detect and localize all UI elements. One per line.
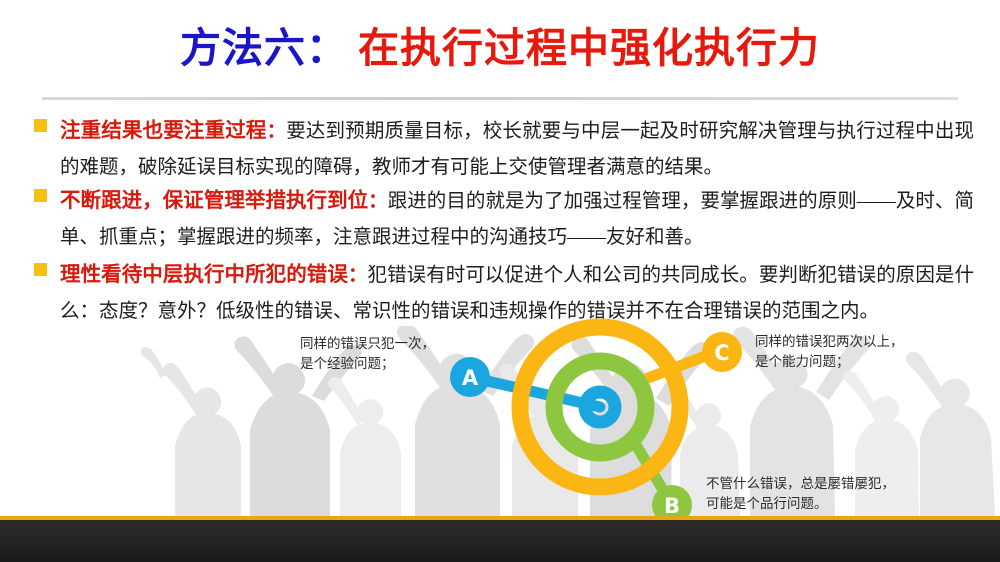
title-divider	[42, 97, 958, 100]
callout-c-line2: 是个能力问题；	[755, 352, 904, 372]
connector-line-c	[648, 352, 716, 378]
paragraph-3-lead: 理性看待中层执行中所犯的错误	[60, 262, 348, 286]
target-ring-middle-green	[554, 361, 646, 453]
bullet-paragraph-3: 理性看待中层执行中所犯的错误：犯错误有时可以促进个人和公司的共同成长。要判断犯错…	[34, 256, 974, 330]
paragraph-2-text: 不断跟进，保证管理举措执行到位：跟进的目的就是为了加强过程管理，要掌握跟进的原则…	[60, 182, 974, 256]
callout-b-line2: 可能是个品行问题。	[706, 494, 895, 514]
paragraph-2-colon: ：	[368, 191, 388, 212]
paragraph-3-colon: ：	[348, 265, 368, 286]
marker-label-c: C	[714, 341, 729, 365]
marker-label-a: A	[462, 366, 479, 390]
paragraph-3-text: 理性看待中层执行中所犯的错误：犯错误有时可以促进个人和公司的共同成长。要判断犯错…	[60, 256, 974, 330]
paragraph-1-text: 注重结果也要注重过程：要达到预期质量目标，校长就要与中层一起及时研究解决管理与执…	[60, 112, 974, 186]
paragraph-1-lead: 注重结果也要注重过程	[60, 118, 267, 142]
marker-label-b: B	[664, 494, 680, 518]
bullet-square-icon	[34, 119, 47, 132]
connector-line-a	[470, 377, 600, 407]
callout-c: 同样的错误犯两次以上， 是个能力问题；	[755, 332, 904, 372]
page-title: 方法六：在执行过程中强化执行力	[0, 22, 1000, 74]
target-ring-inner-blue	[585, 392, 615, 422]
slide-canvas: 方法六：在执行过程中强化执行力 注重结果也要注重过程：要达到预期质量目标，校长就…	[0, 0, 1000, 562]
bullet-square-icon	[34, 263, 47, 276]
callout-b: 不管什么错误，总是屡错屡犯， 可能是个品行问题。	[706, 474, 895, 514]
marker-circle-c[interactable]	[702, 332, 742, 372]
paragraph-1-colon: ：	[267, 121, 287, 142]
callout-a-line2: 是个经验问题；	[300, 354, 435, 374]
paragraph-2-lead: 不断跟进，保证管理举措执行到位	[60, 188, 368, 212]
target-ring-outer-yellow	[520, 327, 680, 487]
bullet-paragraph-1: 注重结果也要注重过程：要达到预期质量目标，校长就要与中层一起及时研究解决管理与执…	[34, 112, 974, 186]
title-part-headline: 在执行过程中强化执行力	[358, 24, 820, 72]
callout-a: 同样的错误只犯一次， 是个经验问题；	[300, 334, 435, 374]
connector-line-b	[633, 440, 672, 505]
bullet-paragraph-2: 不断跟进，保证管理举措执行到位：跟进的目的就是为了加强过程管理，要掌握跟进的原则…	[34, 182, 974, 256]
callout-b-line1: 不管什么错误，总是屡错屡犯，	[706, 474, 895, 494]
callout-c-line1: 同样的错误犯两次以上，	[755, 332, 904, 352]
bullet-square-icon	[34, 189, 47, 202]
marker-circle-a[interactable]	[450, 357, 490, 397]
footer-bar	[0, 516, 1000, 562]
callout-a-line1: 同样的错误只犯一次，	[300, 334, 435, 354]
title-part-method: 方法六：	[180, 24, 348, 72]
